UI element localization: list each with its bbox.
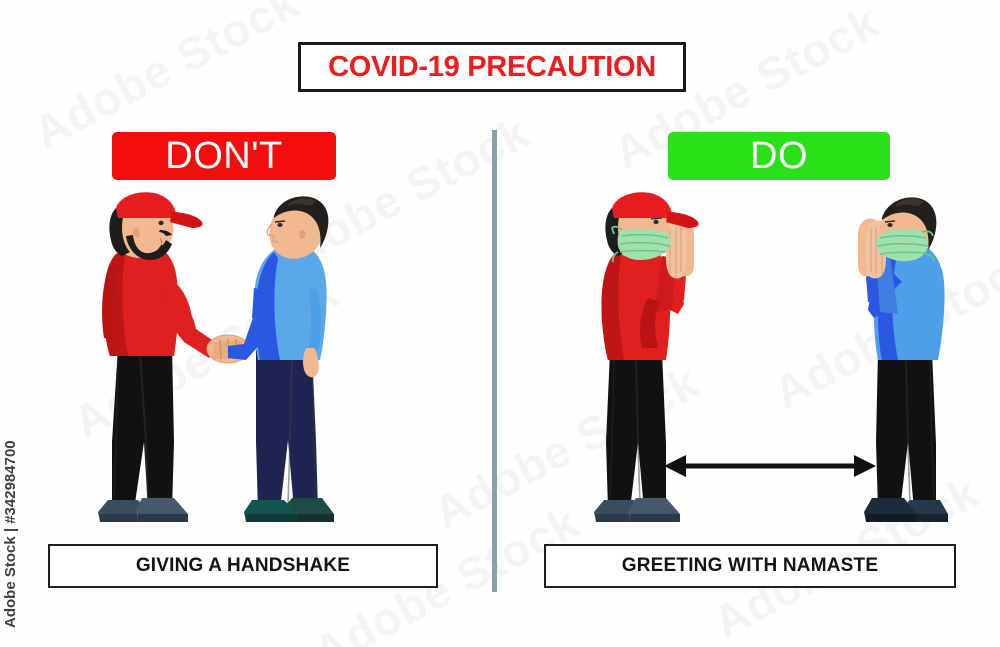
distance-arrow <box>664 455 876 477</box>
arrow-head-left <box>664 455 686 477</box>
eye <box>158 221 163 225</box>
page-title-box: COVID-19 PRECAUTION <box>298 42 686 92</box>
dont-badge-label: DON'T <box>165 137 282 175</box>
eye <box>653 220 658 224</box>
eye <box>887 223 892 227</box>
right-caption-box: GREETING WITH NAMASTE <box>544 544 956 588</box>
handshake-illustration <box>88 192 344 528</box>
cap-crown <box>612 192 672 218</box>
figure-man-blue-shirt-masked <box>858 197 948 522</box>
arrow-head-right <box>854 455 876 477</box>
cap-crown <box>116 192 176 218</box>
panel-divider <box>492 130 497 592</box>
do-badge: DO <box>668 132 890 180</box>
do-badge-label: DO <box>750 137 808 175</box>
figure-man-red-cap <box>98 192 218 522</box>
left-caption-box: GIVING A HANDSHAKE <box>48 544 438 588</box>
left-caption-text: GIVING A HANDSHAKE <box>136 555 350 577</box>
dont-badge: DON'T <box>112 132 336 180</box>
cap-brim <box>170 212 203 228</box>
eye <box>277 223 282 227</box>
page-title: COVID-19 PRECAUTION <box>328 51 656 84</box>
pants <box>112 347 174 510</box>
namaste-illustration <box>592 192 948 528</box>
right-caption-text: GREETING WITH NAMASTE <box>622 555 878 577</box>
adobe-stock-credit: Adobe Stock | #342984700 <box>2 440 19 628</box>
infographic-canvas: Adobe Stock Adobe Stock Adobe Stock Adob… <box>0 0 1000 647</box>
figure-man-blue-shirt <box>228 196 334 522</box>
